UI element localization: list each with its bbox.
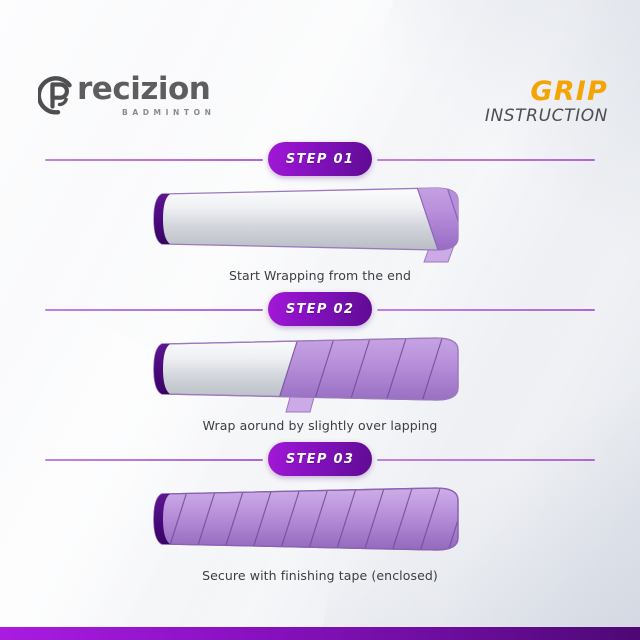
step-caption-1: Start Wrapping from the end: [0, 268, 640, 283]
brand-logo-text: recizion BADMINTON: [80, 74, 215, 117]
step-badge-label: STEP 01: [286, 152, 354, 167]
grip-instruction-poster: recizion BADMINTON GRIP INSTRUCTION STEP…: [0, 0, 640, 640]
step-badge-label: STEP 02: [286, 302, 354, 317]
poster-header: recizion BADMINTON GRIP INSTRUCTION: [0, 72, 640, 128]
step-badge-1[interactable]: STEP 01: [268, 142, 372, 176]
step-header-2: STEP 02: [0, 292, 640, 326]
brand-tagline: BADMINTON: [122, 109, 215, 117]
poster-title-block: GRIP INSTRUCTION: [485, 78, 608, 128]
step-rule-right: [377, 159, 595, 161]
step-rule-right: [377, 459, 595, 461]
step-rule-left: [45, 459, 263, 461]
step-header-1: STEP 01: [0, 142, 640, 176]
step-section-1: STEP 01: [0, 142, 640, 283]
racket-handle-half-wrapped-icon: [140, 332, 500, 414]
step-caption-2: Wrap aorund by slightly over lapping: [0, 418, 640, 433]
racket-handle-fully-wrapped-icon: [140, 482, 500, 564]
brand-logo: recizion BADMINTON: [38, 74, 215, 117]
step-rule-right: [377, 309, 595, 311]
page-title: GRIP: [485, 78, 608, 106]
step-illustration-3: [0, 482, 640, 564]
step-header-3: STEP 03: [0, 442, 640, 476]
step-rule-left: [45, 309, 263, 311]
step-caption-3: Secure with finishing tape (enclosed): [0, 568, 640, 583]
brand-name: recizion: [77, 74, 215, 105]
page-subtitle: INSTRUCTION: [485, 106, 608, 127]
step-illustration-1: [0, 182, 640, 264]
step-section-2: STEP 02: [0, 292, 640, 433]
step-badge-2[interactable]: STEP 02: [268, 292, 372, 326]
step-rule-left: [45, 159, 263, 161]
bottom-accent-bar: [0, 627, 640, 640]
racket-handle-unwrapped-with-first-wrap-icon: [140, 182, 500, 264]
precizion-circle-p-icon: [38, 75, 78, 115]
step-illustration-2: [0, 332, 640, 414]
step-section-3: STEP 03: [0, 442, 640, 583]
step-badge-3[interactable]: STEP 03: [268, 442, 372, 476]
step-badge-label: STEP 03: [286, 452, 354, 467]
